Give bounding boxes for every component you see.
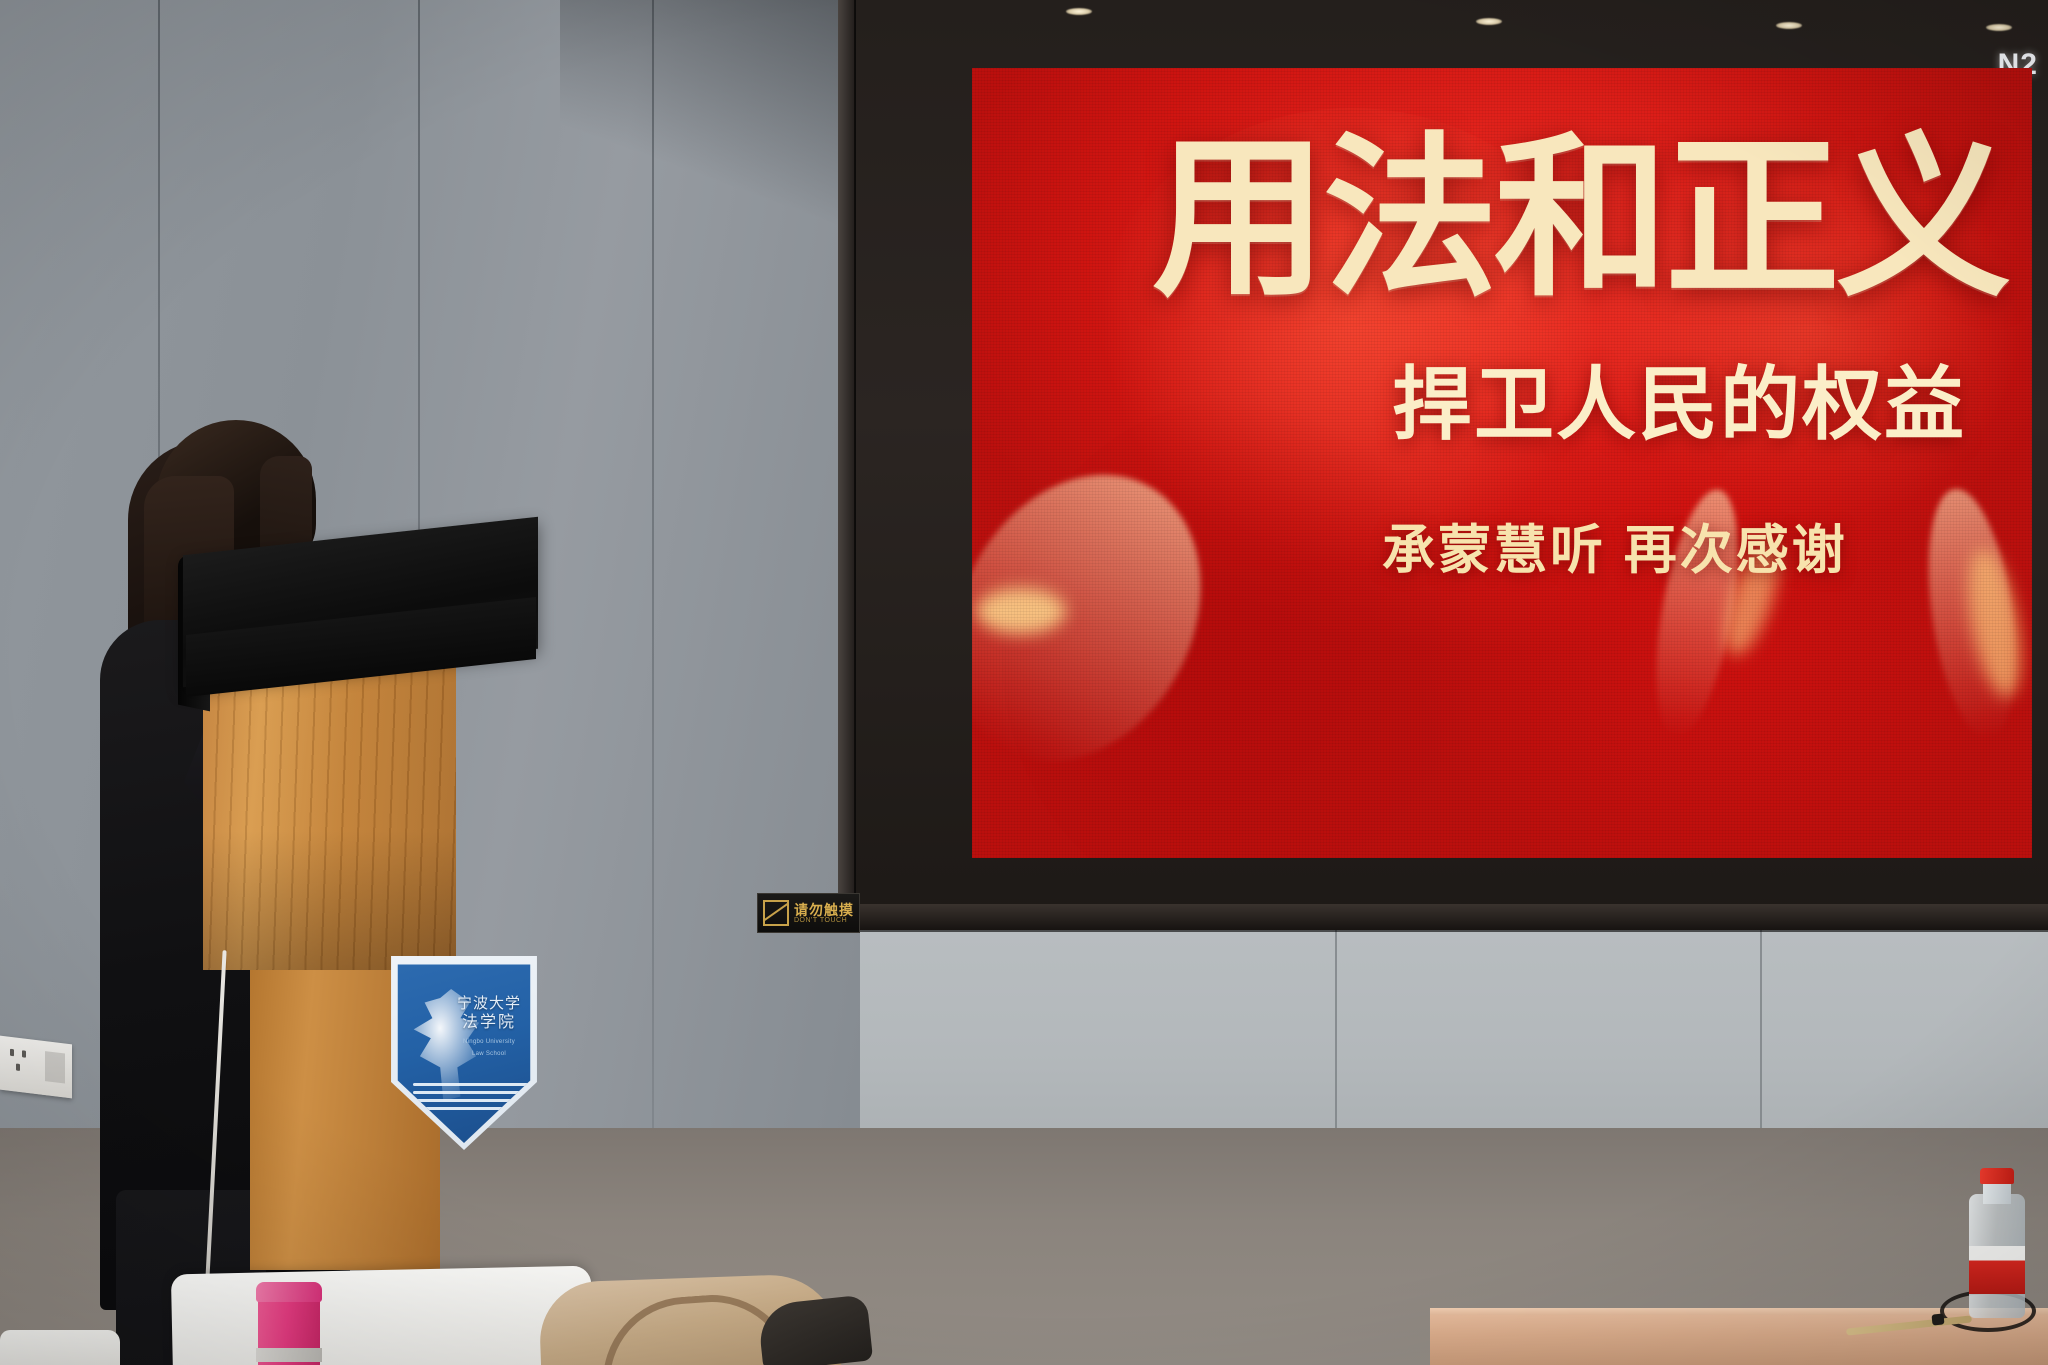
emblem-name-en1: Ningbo University	[453, 1038, 525, 1046]
ceiling-light	[1986, 24, 2012, 31]
slide-subtitle: 捍卫人民的权益	[1392, 340, 1966, 456]
water-bottle	[1965, 1168, 2027, 1318]
presentation-slide: 用法和正义 捍卫人民的权益 承蒙慧听 再次感谢	[972, 68, 2032, 858]
thermos-band	[256, 1348, 322, 1362]
no-touch-icon	[763, 900, 789, 926]
bottle-label	[1969, 1246, 2025, 1294]
chair-back	[171, 1266, 593, 1365]
podium-shading	[203, 660, 456, 970]
pen-tip	[1931, 1313, 1944, 1325]
socket-icon	[8, 1049, 34, 1078]
emblem-name-cn2: 法学院	[453, 1013, 525, 1034]
photo-scene: N2 用法和正义 捍卫人民的权益 承蒙慧听 再次感谢 请勿触摸 DON'T TO…	[0, 0, 2048, 1365]
ceiling-light	[1476, 18, 1502, 25]
ceiling-light	[1776, 22, 1802, 29]
emblem-name-en2: Law School	[453, 1050, 525, 1058]
shield-inner: 宁波大学 法学院 Ningbo University Law School	[395, 959, 533, 1143]
slide-footer-text: 承蒙慧听 再次感谢	[1382, 508, 1848, 584]
slide-title: 用法和正义	[1152, 128, 2032, 312]
thermos-cap	[256, 1282, 322, 1302]
dont-touch-label-cn: 请勿触摸	[794, 903, 854, 917]
ceiling-light	[1066, 8, 1092, 15]
bottle-cap	[1980, 1168, 2014, 1184]
emblem-name-cn1: 宁波大学	[453, 995, 525, 1013]
screen-frame-edge	[838, 0, 858, 920]
switch-plate[interactable]	[45, 1051, 65, 1083]
chair-back	[0, 1330, 120, 1365]
wall-power-outlet[interactable]	[0, 1036, 72, 1099]
university-emblem: 宁波大学 法学院 Ningbo University Law School	[388, 950, 540, 1150]
dont-touch-label-en: DON'T TOUCH	[794, 917, 854, 924]
led-screen-frame: N2 用法和正义 捍卫人民的权益 承蒙慧听 再次感谢	[856, 0, 2048, 930]
dont-touch-sign: 请勿触摸 DON'T TOUCH	[757, 893, 860, 933]
